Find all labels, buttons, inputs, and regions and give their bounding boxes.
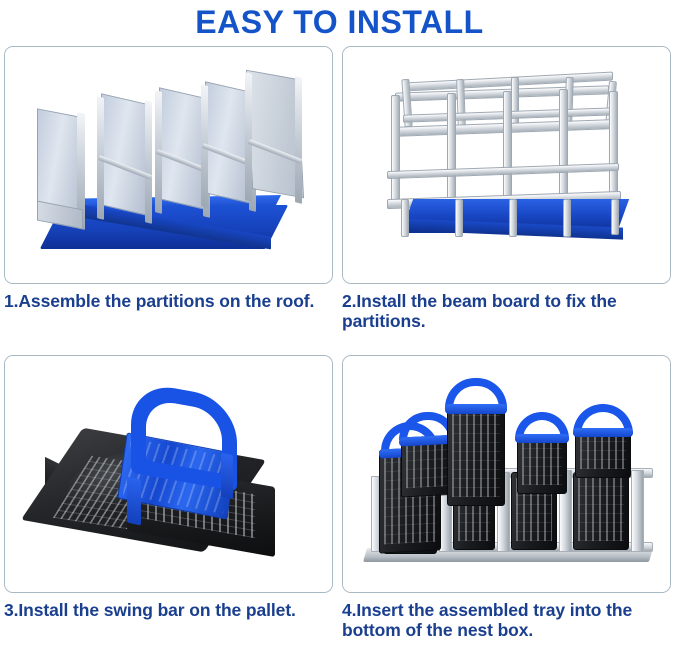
partition-rail-2b — [145, 100, 152, 224]
tray-vents — [580, 436, 626, 469]
tray-handle-bar-3 — [445, 404, 507, 414]
swing-bar-hinge-right — [221, 453, 233, 500]
easy-to-install-infographic: EASY TO INSTALL — [0, 0, 679, 652]
step-1-illustration — [5, 47, 332, 283]
step-card-3: 3.Install the swing bar on the pallet. — [4, 355, 337, 620]
tray-vents — [578, 478, 624, 541]
frame-post-5 — [609, 91, 618, 203]
frame-post-3 — [503, 91, 512, 203]
step-3-image-frame — [4, 355, 333, 593]
step-4-image-frame — [342, 355, 671, 593]
frame-post-1 — [391, 95, 400, 207]
step-card-4: 4.Insert the assembled tray into the bot… — [342, 355, 675, 640]
step-card-2: 2.Install the beam board to fix the part… — [342, 46, 675, 331]
step-4-illustration — [343, 356, 670, 592]
step-4-caption: 4.Insert the assembled tray into the bot… — [342, 600, 677, 640]
step-2-image-frame — [342, 46, 671, 284]
base-post-4 — [563, 199, 571, 237]
nest-tray-lower-4 — [573, 472, 629, 550]
frame-post-4 — [559, 89, 568, 201]
base-post-5 — [611, 199, 619, 235]
step-1-caption: 1.Assemble the partitions on the roof. — [4, 291, 339, 311]
base-post-1 — [401, 199, 409, 237]
steps-grid: 1.Assemble the partitions on the roof. — [0, 46, 679, 652]
tray-vents — [452, 412, 500, 497]
nest-box-post-5 — [631, 470, 644, 552]
step-3-illustration — [5, 356, 332, 592]
step-3-caption: 3.Install the swing bar on the pallet. — [4, 600, 339, 620]
step-2-illustration — [343, 47, 670, 283]
tray-handle-bar-4 — [515, 434, 569, 443]
tray-vents — [522, 442, 562, 485]
page-title: EASY TO INSTALL — [0, 2, 679, 42]
partition-rail-5a — [245, 72, 252, 202]
tray-handle-bar-5 — [573, 428, 633, 437]
base-post-2 — [455, 199, 463, 237]
nest-tray-upper-4 — [517, 436, 567, 494]
frame-post-2 — [447, 93, 456, 205]
base-post-3 — [509, 199, 517, 237]
nest-tray-upper-3 — [447, 406, 505, 506]
partition-rail-5b — [295, 76, 302, 204]
partition-plate-2 — [101, 93, 151, 217]
step-2-caption: 2.Install the beam board to fix the part… — [342, 291, 677, 331]
nest-tray-upper-5 — [575, 430, 631, 478]
step-1-image-frame — [4, 46, 333, 284]
step-card-1: 1.Assemble the partitions on the roof. — [4, 46, 337, 311]
swing-bar-hinge-left — [127, 477, 141, 526]
